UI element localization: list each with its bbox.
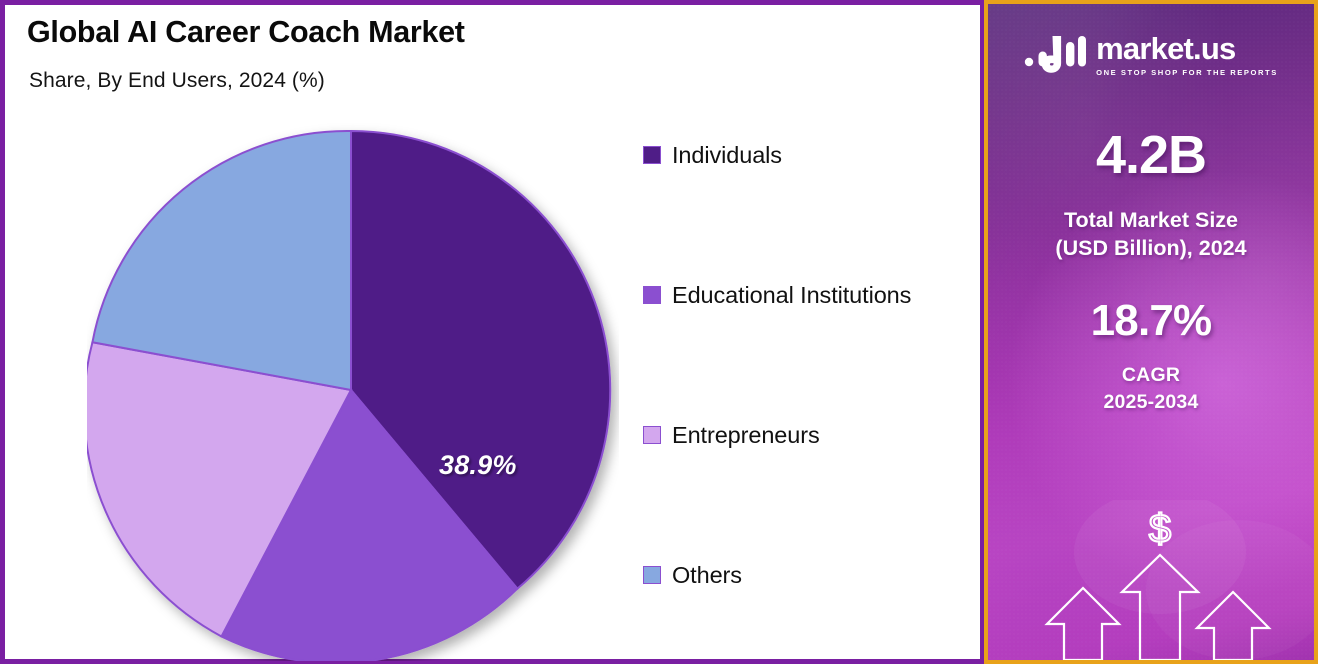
legend-item-others[interactable]: Others [643, 551, 973, 599]
brand-logo-wordmark: market.us [1096, 33, 1278, 64]
brand-logo-text: market.us ONE STOP SHOP FOR THE REPORTS [1096, 33, 1278, 77]
brand-logo[interactable]: market.us ONE STOP SHOP FOR THE REPORTS [1024, 32, 1278, 78]
market-size-caption-line1: Total Market Size [1055, 206, 1246, 234]
cagr-caption-line1: CAGR [1103, 362, 1198, 389]
pie-slices [87, 131, 610, 661]
legend-item-label: Individuals [672, 142, 782, 169]
brand-logo-tagline: ONE STOP SHOP FOR THE REPORTS [1096, 68, 1278, 77]
legend-item-label: Educational Institutions [672, 282, 911, 309]
brand-panel: market.us ONE STOP SHOP FOR THE REPORTS … [984, 0, 1318, 664]
infographic-root: Global AI Career Coach Market Share, By … [0, 0, 1318, 664]
pie-data-label-individuals: 38.9% [439, 450, 517, 481]
page-title: Global AI Career Coach Market [27, 15, 465, 50]
cagr-caption: CAGR 2025-2034 [1103, 362, 1198, 416]
market-us-logo-icon [1024, 32, 1086, 78]
legend-item-individuals[interactable]: Individuals [643, 131, 973, 179]
legend-swatch-icon [643, 426, 661, 444]
legend-swatch-icon [643, 286, 661, 304]
pie-chart: 38.9% [87, 123, 619, 661]
chart-panel: Global AI Career Coach Market Share, By … [0, 0, 984, 664]
brand-content: market.us ONE STOP SHOP FOR THE REPORTS … [988, 4, 1314, 660]
page-subtitle: Share, By End Users, 2024 (%) [29, 69, 325, 93]
legend-item-label: Others [672, 562, 742, 589]
cagr-caption-line2: 2025-2034 [1103, 389, 1198, 416]
legend-swatch-icon [643, 146, 661, 164]
market-size-caption: Total Market Size (USD Billion), 2024 [1055, 206, 1246, 263]
legend-item-label: Entrepreneurs [672, 422, 820, 449]
market-size-caption-line2: (USD Billion), 2024 [1055, 234, 1246, 262]
legend-item-entrepreneurs[interactable]: Entrepreneurs [643, 411, 973, 459]
cagr-value: 18.7% [1091, 299, 1212, 343]
chart-legend: Individuals Educational Institutions Ent… [643, 131, 973, 599]
market-size-value: 4.2B [1096, 128, 1206, 182]
pie-chart-svg [87, 123, 619, 661]
legend-item-educational-institutions[interactable]: Educational Institutions [643, 271, 973, 319]
legend-swatch-icon [643, 566, 661, 584]
